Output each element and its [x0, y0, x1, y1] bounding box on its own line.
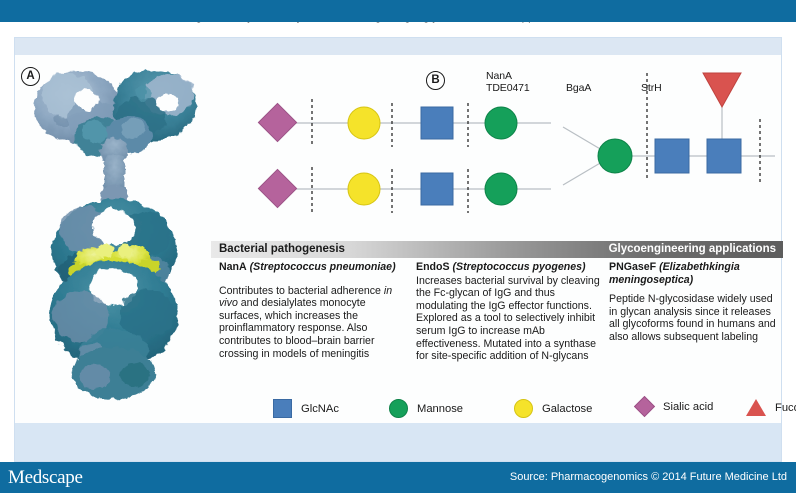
legend-item-glcnac: GlcNAc — [273, 399, 339, 418]
residue-glcnac-core-1 — [707, 139, 741, 173]
column-pngasef-description: Peptide N-glycosidase widely used in gly… — [609, 293, 783, 343]
sialic-acid-diamond-icon — [634, 396, 655, 417]
legend-label-fucose: Fucose — [775, 402, 796, 414]
residue-glcnac-core-2 — [655, 139, 689, 173]
figure-canvas: A — [14, 55, 782, 423]
panel-label-a: A — [21, 67, 40, 86]
legend-label-sialic-acid: Sialic acid — [663, 401, 713, 413]
figure-page: Figure 3. Glycoside hydrolases acting on… — [0, 0, 796, 493]
section-header-bacterial-pathogenesis: Bacterial pathogenesis — [219, 243, 345, 255]
page-tint-top — [14, 37, 782, 56]
residue-sialic-acid-upper — [258, 103, 296, 141]
legend-item-fucose: Fucose — [746, 399, 796, 416]
mannose-circle-icon — [389, 399, 408, 418]
column-endos-enzyme: EndoS — [416, 261, 450, 273]
residue-glcnac-upper — [421, 107, 453, 139]
panel-a-antibody-structure: A — [15, 55, 211, 417]
residue-glcnac-lower — [421, 173, 453, 205]
source-credit: Source: Pharmacogenomics © 2014 Future M… — [510, 471, 787, 483]
legend-label-mannose: Mannose — [417, 403, 463, 415]
clipped-caption: Figure 3. Glycoside hydrolases acting on… — [0, 22, 796, 36]
column-nana-description: Contributes to bacterial adherence in vi… — [219, 285, 409, 361]
medscape-logo: Medscape — [8, 467, 83, 489]
residue-sialic-acid-lower — [258, 169, 296, 207]
legend-label-galactose: Galactose — [542, 403, 592, 415]
residue-mannose-upper — [485, 107, 517, 139]
glycan-legend: GlcNAc Mannose Galactose Sialic acid Fuc… — [211, 399, 783, 425]
column-nana: NanA (Streptococcus pneumoniae) Contribu… — [219, 261, 409, 360]
description-columns: NanA (Streptococcus pneumoniae) Contribu… — [211, 261, 783, 391]
galactose-circle-icon — [514, 399, 533, 418]
residue-galactose-lower — [348, 173, 380, 205]
column-endos-description: Increases bacterial survival by cleaving… — [416, 275, 602, 363]
column-nana-enzyme: NanA — [219, 261, 247, 273]
column-endos-title: EndoS (Streptococcus pyogenes) — [416, 261, 602, 274]
in-vivo-italic: in vivo — [219, 285, 392, 310]
top-blue-bar — [0, 0, 796, 22]
fucose-triangle-icon — [746, 399, 766, 416]
column-pngasef-enzyme: PNGaseF — [609, 261, 656, 273]
legend-item-sialic-acid: Sialic acid — [635, 399, 713, 414]
legend-item-mannose: Mannose — [389, 399, 463, 418]
panel-b-glycan-schematic: B NanA TDE0471 BgaA StrH EndoS EndoS2 En… — [211, 55, 783, 233]
section-header-glycoengineering: Glycoengineering applications — [609, 243, 776, 255]
column-endos-organism: (Streptococcus pyogenes) — [453, 261, 586, 273]
legend-item-galactose: Galactose — [514, 399, 592, 418]
panel-label-b: B — [426, 71, 445, 90]
legend-label-glcnac: GlcNAc — [301, 403, 339, 415]
medscape-footer: Medscape Source: Pharmacogenomics © 2014… — [0, 462, 796, 493]
residue-galactose-upper — [348, 107, 380, 139]
clipped-caption-text: Figure 3. Glycoside hydrolases acting on… — [186, 22, 580, 23]
fc-region-base — [72, 347, 156, 399]
column-pngasef-title: PNGaseF (Elizabethkingia meningoseptica) — [609, 261, 783, 286]
residue-mannose-core — [598, 139, 632, 173]
page-tint-bottom — [14, 422, 782, 462]
enzyme-label-bgaa: BgaA — [566, 83, 591, 95]
glcnac-square-icon — [273, 399, 292, 418]
section-header-band: Bacterial pathogenesis Glycoengineering … — [211, 241, 783, 258]
residue-fucose — [703, 73, 741, 107]
enzyme-label-nana: NanA TDE0471 — [486, 71, 530, 94]
column-pngasef: PNGaseF (Elizabethkingia meningoseptica)… — [609, 261, 783, 344]
column-nana-organism: (Streptococcus pneumoniae) — [250, 261, 396, 273]
hinge-region — [100, 138, 128, 209]
enzyme-label-strh: StrH — [641, 83, 662, 95]
residue-mannose-lower — [485, 173, 517, 205]
column-nana-title: NanA (Streptococcus pneumoniae) — [219, 261, 409, 274]
column-endos: EndoS (Streptococcus pyogenes) Increases… — [416, 261, 602, 363]
